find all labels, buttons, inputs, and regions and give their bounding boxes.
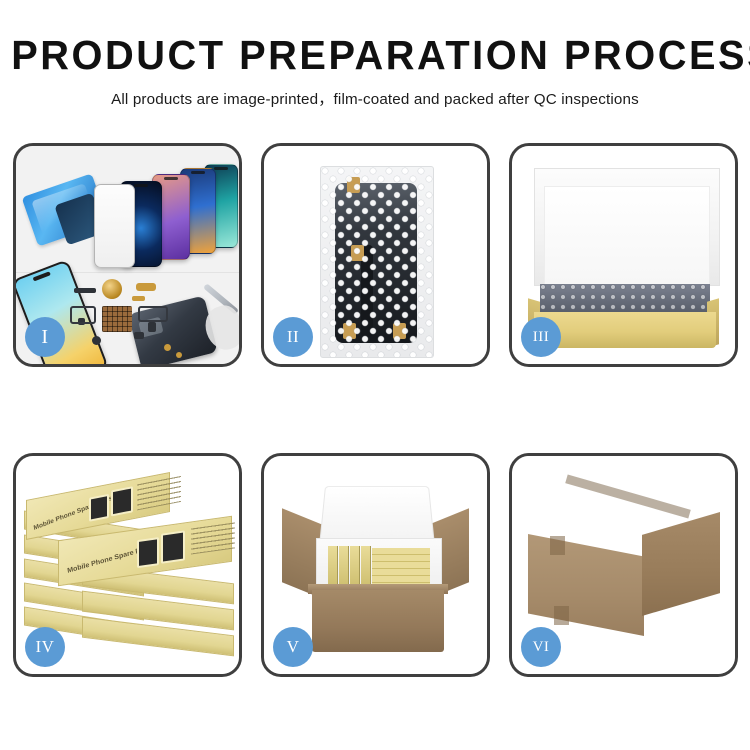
step-badge-5: V xyxy=(273,627,313,667)
product-photo-icon xyxy=(89,494,109,522)
product-photo-icon xyxy=(161,530,185,563)
yellow-box-edge xyxy=(328,546,338,586)
bubble-wrap-insert-icon xyxy=(540,284,710,314)
process-step-panel-5[interactable]: V xyxy=(261,453,490,677)
yellow-box-edge xyxy=(350,546,360,586)
page-subtitle: All products are image-printed，film-coat… xyxy=(0,87,750,109)
process-step-panel-4[interactable]: Mobile Phone Spare Parts Mobile Phone Sp… xyxy=(13,453,242,677)
step-badge-2: II xyxy=(273,317,313,357)
process-step-grid: I II III xyxy=(13,143,737,677)
yellow-box-front-icon xyxy=(534,312,716,348)
yellow-boxes-group xyxy=(326,546,430,586)
phone-notch-icon xyxy=(191,171,205,174)
bubble-wrap-bag-icon xyxy=(320,166,434,358)
screw-icon xyxy=(164,344,171,351)
process-step-panel-1[interactable]: I xyxy=(13,143,242,367)
carton-tape-icon xyxy=(554,606,569,625)
screw-icon xyxy=(176,352,182,358)
yellow-box-edge xyxy=(339,546,349,586)
page-title: PRODUCT PREPARATION PROCESS xyxy=(11,34,739,77)
yellow-box-edge xyxy=(361,546,371,586)
step-badge-3: III xyxy=(521,317,561,357)
yellow-boxes-flat-stack xyxy=(372,548,430,586)
product-photo-icon xyxy=(111,486,133,516)
phone-fan-group xyxy=(94,164,234,274)
process-step-panel-2[interactable]: II xyxy=(261,143,490,367)
speaker-coil-icon xyxy=(102,279,122,299)
spec-text-lines xyxy=(191,522,235,554)
process-step-panel-6[interactable]: VI xyxy=(509,453,738,677)
small-chip-icon xyxy=(148,322,156,332)
foam-sheet-icon xyxy=(544,186,710,286)
shield-plate-icon xyxy=(102,306,132,332)
bubble-texture-icon xyxy=(321,167,433,357)
step-badge-6: VI xyxy=(521,627,561,667)
button-component-icon xyxy=(92,336,101,345)
screen-protector-icon xyxy=(94,184,135,268)
process-step-panel-3[interactable]: III xyxy=(509,143,738,367)
small-chip-icon xyxy=(134,332,144,339)
phone-notch-icon xyxy=(134,184,148,187)
carton-front-icon xyxy=(312,590,444,652)
step-badge-4: IV xyxy=(25,627,65,667)
carton-tape-icon xyxy=(550,536,565,555)
phone-notch-icon xyxy=(214,167,228,170)
spec-text-lines xyxy=(137,476,181,511)
step-badge-1: I xyxy=(25,317,65,357)
small-chip-icon xyxy=(74,288,96,293)
gold-connector-icon xyxy=(132,296,145,301)
flex-cable-icon xyxy=(70,306,96,324)
phone-notch-icon xyxy=(164,177,178,180)
gold-connector-icon xyxy=(136,283,156,291)
page-header: PRODUCT PREPARATION PROCESS All products… xyxy=(0,0,750,109)
flex-cable-icon xyxy=(138,306,168,322)
product-photo-icon xyxy=(137,537,159,568)
